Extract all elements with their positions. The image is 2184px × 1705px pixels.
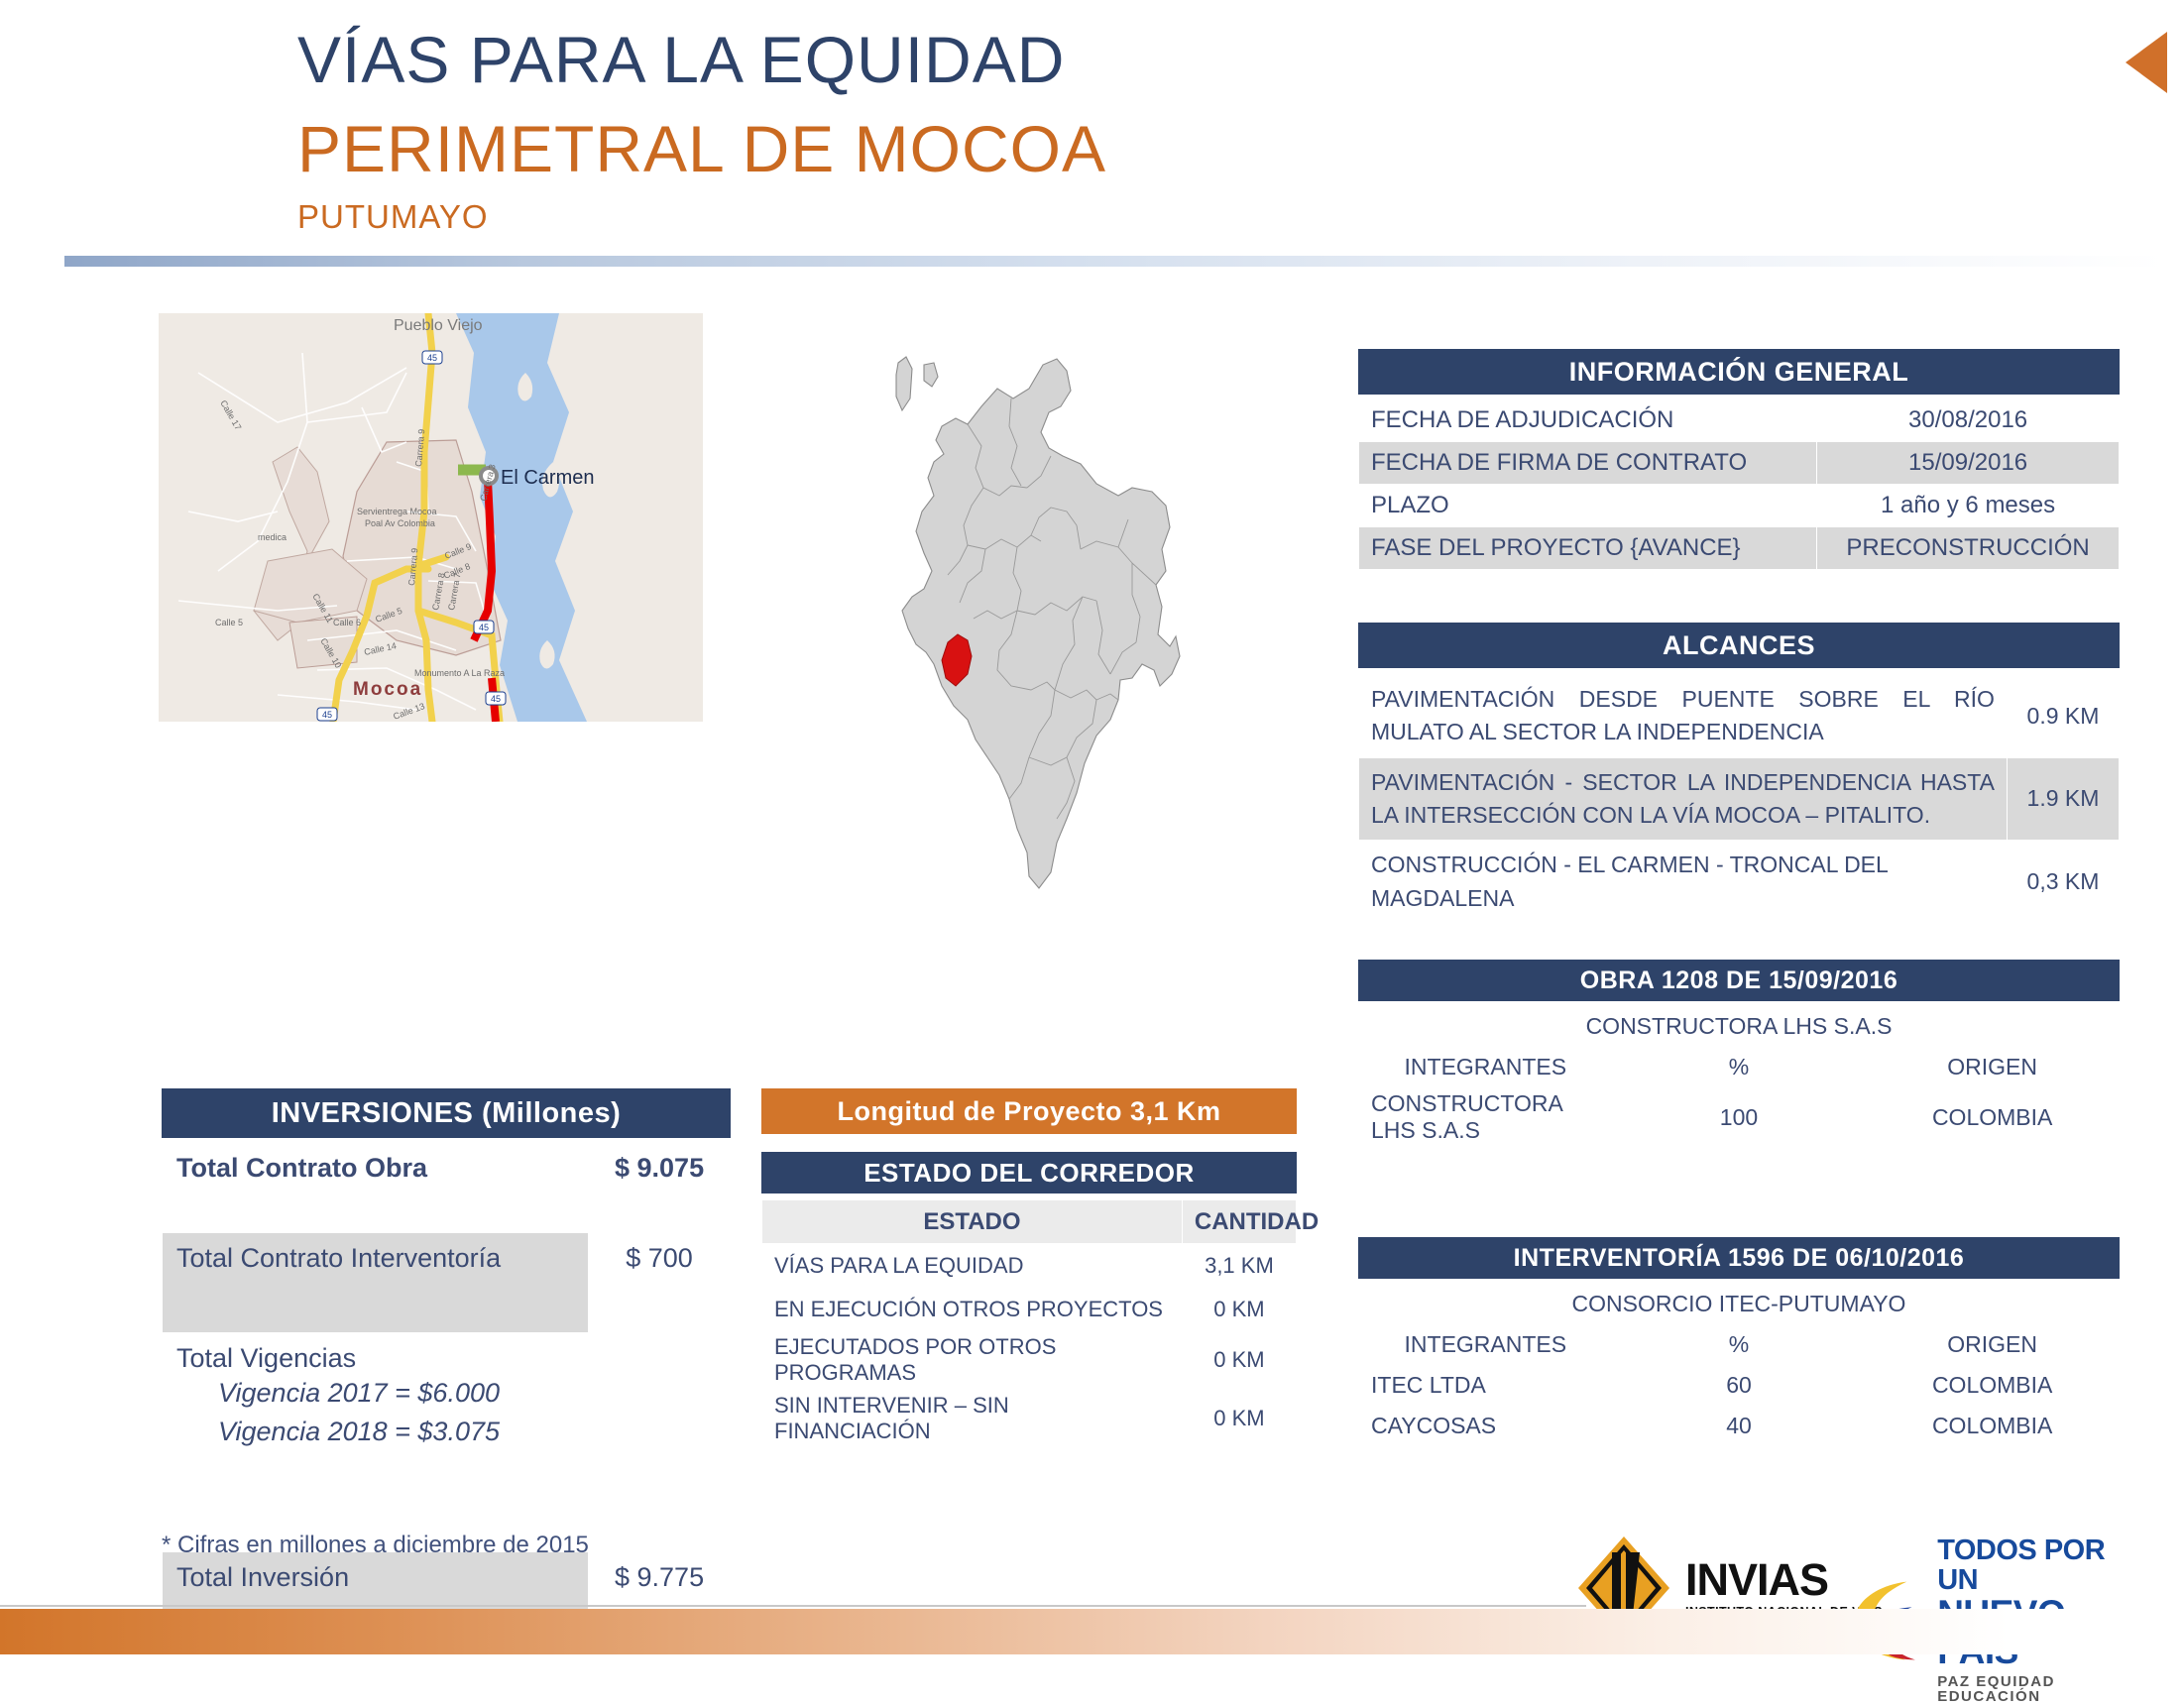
svg-text:Poal Av Colombia: Poal Av Colombia	[365, 518, 435, 528]
cell-percent: 100	[1612, 1087, 1866, 1148]
obra-company: CONSTRUCTORA LHS S.A.S	[1359, 1006, 2120, 1047]
cell-length: 1.9 KM	[2007, 757, 2119, 841]
info-general-table: FECHA DE ADJUDICACIÓN 30/08/2016 FECHA D…	[1358, 398, 2120, 570]
cell-percent: 60	[1612, 1365, 1866, 1406]
table-row: VÍAS PARA LA EQUIDAD 3,1 KM	[762, 1244, 1297, 1288]
cell-vigencias: Total Vigencias Vigencia 2017 = $6.000 V…	[163, 1333, 589, 1552]
table-row: Total Vigencias Vigencia 2017 = $6.000 V…	[163, 1333, 731, 1552]
table-row: FECHA DE FIRMA DE CONTRATO 15/09/2016	[1359, 442, 2120, 485]
column-header-estado: ESTADO	[762, 1200, 1183, 1244]
cell-integrante: CAYCOSAS	[1359, 1406, 1613, 1446]
page-title: VÍAS PARA LA EQUIDAD	[297, 22, 1065, 97]
column-header-cantidad: CANTIDAD	[1182, 1200, 1296, 1244]
cell-origen: COLOMBIA	[1866, 1087, 2120, 1148]
cell-origen: COLOMBIA	[1866, 1365, 2120, 1406]
svg-text:45: 45	[491, 694, 501, 704]
info-general-title: INFORMACIÓN GENERAL	[1358, 349, 2120, 395]
cell-label: FECHA DE ADJUDICACIÓN	[1359, 399, 1817, 442]
table-row: CONSTRUCTORA LHS S.A.S	[1359, 1006, 2120, 1047]
cell-cantidad: 0 KM	[1182, 1331, 1296, 1390]
column-header-integrantes: INTEGRANTES	[1359, 1047, 1613, 1087]
inversiones-title: INVERSIONES (Millones)	[162, 1088, 731, 1138]
svg-text:Calle 6: Calle 6	[333, 618, 361, 627]
cell-estado: VÍAS PARA LA EQUIDAD	[762, 1244, 1183, 1288]
vigencia-2018: Vigencia 2018 = $3.075	[218, 1413, 574, 1451]
estado-corredor-panel: ESTADO DEL CORREDOR ESTADO CANTIDAD VÍAS…	[761, 1152, 1297, 1448]
cell-cantidad: 0 KM	[1182, 1390, 1296, 1448]
interventoria-company: CONSORCIO ITEC-PUTUMAYO	[1359, 1284, 2120, 1324]
gov-line-3: PAZ EQUIDAD EDUCACIÓN	[1937, 1674, 2131, 1705]
city-map-graphic: 45 45 45 45 Pueblo Viejo El Carmen Mocoa…	[159, 313, 703, 722]
table-row: CAYCOSAS 40 COLOMBIA	[1359, 1406, 2120, 1446]
back-triangle-icon[interactable]	[2126, 32, 2167, 93]
svg-text:45: 45	[322, 710, 332, 720]
page-header: VÍAS PARA LA EQUIDAD PERIMETRAL DE MOCOA…	[0, 0, 2184, 248]
estado-corredor-table: ESTADO CANTIDAD VÍAS PARA LA EQUIDAD 3,1…	[761, 1199, 1297, 1448]
table-row: PAVIMENTACIÓN DESDE PUENTE SOBRE EL RÍO …	[1359, 675, 2120, 758]
cell-value: PRECONSTRUCCIÓN	[1817, 527, 2120, 570]
cell-label: FECHA DE FIRMA DE CONTRATO	[1359, 442, 1817, 485]
svg-text:Calle 5: Calle 5	[215, 618, 243, 627]
table-row: FECHA DE ADJUDICACIÓN 30/08/2016	[1359, 399, 2120, 442]
svg-text:45: 45	[479, 623, 489, 632]
svg-text:Servientrega Mocoa: Servientrega Mocoa	[357, 507, 437, 516]
obra-panel: OBRA 1208 DE 15/09/2016 CONSTRUCTORA LHS…	[1358, 960, 2120, 1148]
cell-length: 0,3 KM	[2007, 841, 2119, 924]
cell-label: Total Vigencias	[176, 1343, 356, 1373]
obra-title: OBRA 1208 DE 15/09/2016	[1358, 960, 2120, 1001]
table-header-row: ESTADO CANTIDAD	[762, 1200, 1297, 1244]
cell-estado: EN EJECUCIÓN OTROS PROYECTOS	[762, 1288, 1183, 1331]
cell-value	[589, 1333, 731, 1552]
info-general-panel: INFORMACIÓN GENERAL FECHA DE ADJUDICACIÓ…	[1358, 349, 2120, 570]
obra-table: CONSTRUCTORA LHS S.A.S INTEGRANTES % ORI…	[1358, 1005, 2120, 1148]
cell-label: PLAZO	[1359, 485, 1817, 527]
column-header-integrantes: INTEGRANTES	[1359, 1324, 1613, 1365]
city-map[interactable]: 45 45 45 45 Pueblo Viejo El Carmen Mocoa…	[159, 313, 703, 722]
column-header-origen: ORIGEN	[1866, 1047, 2120, 1087]
table-row: PAVIMENTACIÓN - SECTOR LA INDEPENDENCIA …	[1359, 757, 2120, 841]
cell-estado: EJECUTADOS POR OTROS PROGRAMAS	[762, 1331, 1183, 1390]
svg-text:medica: medica	[258, 532, 287, 542]
estado-corredor-title: ESTADO DEL CORREDOR	[761, 1152, 1297, 1193]
footer-gradient-bar	[0, 1609, 2184, 1654]
alcances-title: ALCANCES	[1358, 623, 2120, 668]
footer-divider	[0, 1605, 1586, 1607]
cell-label: Total Contrato Obra	[163, 1143, 589, 1233]
interventoria-table: CONSORCIO ITEC-PUTUMAYO INTEGRANTES % OR…	[1358, 1283, 2120, 1446]
cell-value: 1 año y 6 meses	[1817, 485, 2120, 527]
cell-scope: PAVIMENTACIÓN DESDE PUENTE SOBRE EL RÍO …	[1359, 675, 2008, 758]
svg-text:45: 45	[427, 353, 437, 363]
cell-value: $ 700	[589, 1233, 731, 1333]
table-row: SIN INTERVENIR – SIN FINANCIACIÓN 0 KM	[762, 1390, 1297, 1448]
cell-label: FASE DEL PROYECTO {AVANCE}	[1359, 527, 1817, 570]
svg-text:Mocoa: Mocoa	[353, 679, 422, 700]
table-row: EJECUTADOS POR OTROS PROGRAMAS 0 KM	[762, 1331, 1297, 1390]
table-row: PLAZO 1 año y 6 meses	[1359, 485, 2120, 527]
cell-estado: SIN INTERVENIR – SIN FINANCIACIÓN	[762, 1390, 1183, 1448]
cell-value: 15/09/2016	[1817, 442, 2120, 485]
cell-scope: PAVIMENTACIÓN - SECTOR LA INDEPENDENCIA …	[1359, 757, 2008, 841]
table-row: Total Contrato Obra $ 9.075	[163, 1143, 731, 1233]
table-row: CONSTRUCCIÓN - EL CARMEN - TRONCAL DEL M…	[1359, 841, 2120, 924]
header-divider	[64, 256, 2166, 267]
table-row: EN EJECUCIÓN OTROS PROYECTOS 0 KM	[762, 1288, 1297, 1331]
table-row: ITEC LTDA 60 COLOMBIA	[1359, 1365, 2120, 1406]
svg-text:Monumento A La Raza: Monumento A La Raza	[414, 668, 505, 678]
alcances-panel: ALCANCES PAVIMENTACIÓN DESDE PUENTE SOBR…	[1358, 623, 2120, 924]
table-header-row: INTEGRANTES % ORIGEN	[1359, 1047, 2120, 1087]
cell-integrante: ITEC LTDA	[1359, 1365, 1613, 1406]
table-header-row: INTEGRANTES % ORIGEN	[1359, 1324, 2120, 1365]
cell-label: Total Contrato Interventoría	[163, 1233, 589, 1333]
cell-scope: CONSTRUCCIÓN - EL CARMEN - TRONCAL DEL M…	[1359, 841, 2008, 924]
cell-value: $ 9.075	[589, 1143, 731, 1233]
longitud-banner: Longitud de Proyecto 3,1 Km	[761, 1088, 1297, 1134]
cell-cantidad: 3,1 KM	[1182, 1244, 1296, 1288]
svg-text:El Carmen: El Carmen	[501, 467, 594, 489]
cell-cantidad: 0 KM	[1182, 1288, 1296, 1331]
column-header-percent: %	[1612, 1324, 1866, 1365]
page-subtitle: PERIMETRAL DE MOCOA	[297, 111, 1106, 186]
column-header-percent: %	[1612, 1047, 1866, 1087]
cell-integrante: CONSTRUCTORA LHS S.A.S	[1359, 1087, 1613, 1148]
cell-percent: 40	[1612, 1406, 1866, 1446]
table-row: FASE DEL PROYECTO {AVANCE} PRECONSTRUCCI…	[1359, 527, 2120, 570]
cell-value: 30/08/2016	[1817, 399, 2120, 442]
colombia-map-graphic	[872, 337, 1229, 912]
vigencia-2017: Vigencia 2017 = $6.000	[218, 1374, 574, 1413]
page-department: PUTUMAYO	[297, 198, 489, 236]
svg-text:Pueblo Viejo: Pueblo Viejo	[394, 317, 483, 334]
table-row: Total Contrato Interventoría $ 700	[163, 1233, 731, 1333]
interventoria-panel: INTERVENTORÍA 1596 DE 06/10/2016 CONSORC…	[1358, 1237, 2120, 1446]
cell-origen: COLOMBIA	[1866, 1406, 2120, 1446]
interventoria-title: INTERVENTORÍA 1596 DE 06/10/2016	[1358, 1237, 2120, 1279]
colombia-map	[872, 337, 1229, 912]
table-row: CONSTRUCTORA LHS S.A.S 100 COLOMBIA	[1359, 1087, 2120, 1148]
table-row: CONSORCIO ITEC-PUTUMAYO	[1359, 1284, 2120, 1324]
gov-line-1: TODOS POR UN	[1937, 1536, 2131, 1595]
alcances-table: PAVIMENTACIÓN DESDE PUENTE SOBRE EL RÍO …	[1358, 674, 2120, 924]
footnote: * Cifras en millones a diciembre de 2015	[162, 1532, 589, 1559]
column-header-origen: ORIGEN	[1866, 1324, 2120, 1365]
cell-length: 0.9 KM	[2007, 675, 2119, 758]
inversiones-table: Total Contrato Obra $ 9.075 Total Contra…	[162, 1142, 731, 1635]
